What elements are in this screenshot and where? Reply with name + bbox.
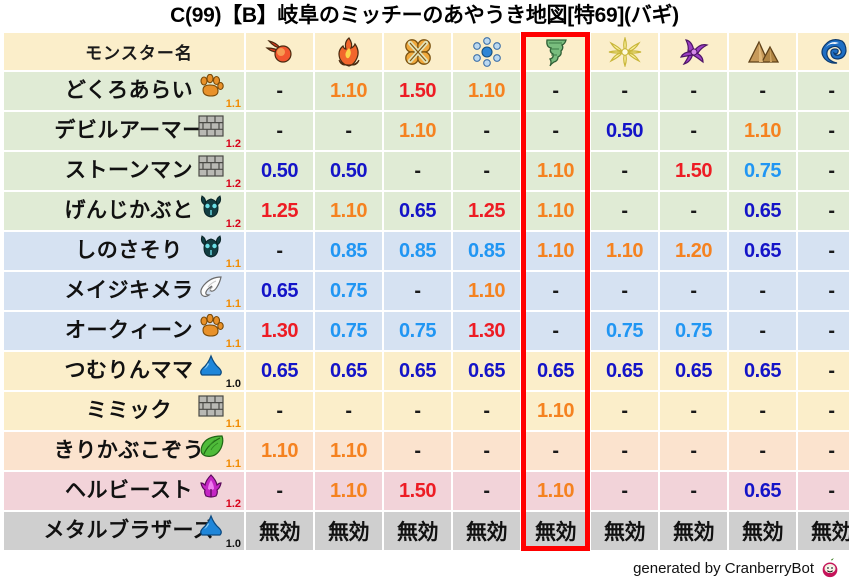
page-title: C(99)【B】岐阜のミッチーのあやうき地図[特69](バギ) — [0, 0, 849, 31]
element-column-header-fire-ball[interactable] — [246, 33, 313, 70]
resistance-value-cell: 1.10 — [453, 72, 520, 110]
resistance-value: - — [552, 440, 558, 462]
monster-name-cell[interactable]: げんじかぶと 1.2 — [4, 192, 244, 230]
family-multiplier-label: 1.2 — [226, 179, 241, 190]
paw-icon — [198, 74, 224, 98]
resistance-value-cell: 1.10 — [522, 472, 589, 510]
family-multiplier-label: 1.0 — [226, 539, 241, 550]
resistance-value-cell: - — [798, 432, 849, 470]
monster-family-badge: 1.2 — [196, 153, 242, 189]
monster-name-cell[interactable]: メタルブラザーズ 1.0 — [4, 512, 244, 550]
table-row: ストーンマン 1.20.500.50--1.10-1.500.75- — [4, 152, 849, 190]
mountain-icon — [746, 37, 780, 67]
resistance-value-cell: 無効 — [591, 512, 658, 550]
resistance-value-cell: - — [453, 472, 520, 510]
resistance-value: 1.20 — [675, 240, 712, 262]
resistance-value: 無効 — [259, 521, 300, 544]
resistance-value: 1.50 — [399, 480, 436, 502]
resistance-value: 0.75 — [675, 320, 712, 342]
table-row: メイジキメラ 1.10.650.75-1.10----- — [4, 272, 849, 310]
resistance-value-cell: - — [591, 272, 658, 310]
resistance-value-cell: 無効 — [798, 512, 849, 550]
brick-icon — [198, 114, 224, 138]
family-multiplier-label: 1.2 — [226, 499, 241, 510]
resistance-value: - — [828, 240, 834, 262]
resistance-value: 無効 — [604, 521, 645, 544]
resistance-value-cell: - — [591, 472, 658, 510]
table-header: モンスター名 — [4, 33, 849, 70]
resistance-value: 1.10 — [330, 80, 367, 102]
wave-icon — [815, 37, 849, 67]
resistance-value-cell: - — [798, 472, 849, 510]
resistance-value: 1.50 — [399, 80, 436, 102]
resistance-value: 1.10 — [606, 240, 643, 262]
resistance-value-cell: 1.10 — [384, 112, 451, 150]
resistance-value: 1.10 — [330, 200, 367, 222]
element-column-header-ice[interactable] — [453, 33, 520, 70]
resistance-value: - — [828, 440, 834, 462]
resistance-value-cell: 0.65 — [246, 352, 313, 390]
resistance-value: - — [690, 280, 696, 302]
resistance-value-cell: 1.50 — [660, 152, 727, 190]
resistance-value: 0.65 — [468, 360, 505, 382]
monster-name-cell[interactable]: つむりんママ 1.0 — [4, 352, 244, 390]
resistance-value-cell: 1.30 — [453, 312, 520, 350]
resistance-value-cell: - — [453, 112, 520, 150]
resistance-value-cell: 0.75 — [384, 312, 451, 350]
resistance-value: 無効 — [673, 521, 714, 544]
resistance-value: - — [483, 120, 489, 142]
table-body: どくろあらい 1.1-1.101.501.10-----デビルアーマー 1.2-… — [4, 72, 849, 550]
resistance-value-cell: - — [522, 272, 589, 310]
resistance-value: 0.65 — [606, 360, 643, 382]
resistance-value-cell: - — [591, 432, 658, 470]
resistance-value-cell: - — [798, 392, 849, 430]
resistance-value-cell: 0.65 — [384, 352, 451, 390]
resistance-value: - — [552, 120, 558, 142]
family-multiplier-label: 1.1 — [226, 419, 241, 430]
resistance-value-cell: - — [246, 112, 313, 150]
resistance-value: 無効 — [811, 521, 849, 544]
resistance-value-cell: 1.10 — [315, 472, 382, 510]
resistance-value: 0.65 — [330, 360, 367, 382]
resistance-value: 0.65 — [744, 360, 781, 382]
resistance-value: 0.65 — [261, 280, 298, 302]
family-multiplier-label: 1.1 — [226, 459, 241, 470]
resistance-value: 1.10 — [537, 400, 574, 422]
family-multiplier-label: 1.1 — [226, 299, 241, 310]
element-column-header-light[interactable] — [591, 33, 658, 70]
resistance-value-cell: 1.10 — [315, 72, 382, 110]
resistance-value: 無効 — [742, 521, 783, 544]
table-row: どくろあらい 1.1-1.101.501.10----- — [4, 72, 849, 110]
resistance-value-cell: - — [384, 432, 451, 470]
resistance-value-cell: 0.65 — [729, 472, 796, 510]
resistance-value-cell: 0.65 — [522, 352, 589, 390]
resistance-value-cell: - — [384, 392, 451, 430]
resistance-value-cell: 0.75 — [315, 312, 382, 350]
element-column-header-earth[interactable] — [729, 33, 796, 70]
monster-name-column-header: モンスター名 — [4, 33, 244, 70]
paw-icon — [198, 314, 224, 338]
resistance-value-cell: 無効 — [522, 512, 589, 550]
resistance-value: 0.50 — [261, 160, 298, 182]
resistance-value: - — [828, 320, 834, 342]
resistance-value-cell: - — [453, 152, 520, 190]
resistance-value-cell: 1.10 — [522, 392, 589, 430]
resistance-value-cell: 0.65 — [660, 352, 727, 390]
resistance-value-cell: - — [384, 152, 451, 190]
resistance-value-cell: - — [729, 272, 796, 310]
monster-name-label: デビルアーマー — [44, 112, 203, 150]
resistance-value: 0.65 — [399, 360, 436, 382]
element-column-header-fire-flame[interactable] — [315, 33, 382, 70]
table-row: つむりんママ 1.00.650.650.650.650.650.650.650.… — [4, 352, 849, 390]
resistance-value-cell: 0.65 — [384, 192, 451, 230]
footer-credit: generated by CranberryBot — [633, 557, 841, 579]
resistance-value-cell: - — [798, 72, 849, 110]
family-multiplier-label: 1.1 — [226, 99, 241, 110]
resistance-value: 0.65 — [744, 480, 781, 502]
resistance-value-cell: - — [315, 392, 382, 430]
resistance-value: 0.85 — [468, 240, 505, 262]
resistance-value-cell: - — [798, 152, 849, 190]
tornado-icon — [539, 37, 573, 67]
resistance-value: - — [690, 200, 696, 222]
resistance-value: - — [414, 440, 420, 462]
resistance-value-cell: - — [453, 432, 520, 470]
resistance-value: - — [759, 320, 765, 342]
monster-name-label: げんじかぶと — [55, 192, 194, 230]
monster-name-label: どくろあらい — [55, 72, 193, 110]
resistance-table-wrap: モンスター名 — [0, 31, 849, 552]
element-column-header-water[interactable] — [798, 33, 849, 70]
resistance-value-cell: 0.85 — [453, 232, 520, 270]
resistance-value-cell: - — [591, 72, 658, 110]
resistance-table: モンスター名 — [2, 31, 849, 552]
resistance-value: - — [621, 80, 627, 102]
resistance-value: - — [276, 80, 282, 102]
resistance-value: - — [276, 400, 282, 422]
resistance-value: 0.65 — [261, 360, 298, 382]
table-row: オークィーン 1.11.300.750.751.30-0.750.75-- — [4, 312, 849, 350]
monster-name-cell[interactable]: しのさそり 1.1 — [4, 232, 244, 270]
resistance-value: 1.10 — [330, 480, 367, 502]
resistance-value-cell: 無効 — [315, 512, 382, 550]
table-row: ミミック 1.1----1.10---- — [4, 392, 849, 430]
monster-family-badge: 1.2 — [196, 193, 242, 229]
resistance-value: 無効 — [466, 521, 507, 544]
resistance-value-cell: - — [246, 472, 313, 510]
monster-name-label: メイジキメラ — [55, 272, 194, 310]
resistance-value: - — [345, 400, 351, 422]
resistance-value: 1.10 — [399, 120, 436, 142]
resistance-value-cell: - — [591, 152, 658, 190]
resistance-value-cell: 1.25 — [246, 192, 313, 230]
resistance-value: - — [345, 120, 351, 142]
table-row: デビルアーマー 1.2--1.10--0.50-1.10- — [4, 112, 849, 150]
resistance-value-cell: - — [729, 312, 796, 350]
resistance-value-cell: - — [315, 112, 382, 150]
resistance-value: - — [483, 160, 489, 182]
resistance-value-cell: 0.85 — [384, 232, 451, 270]
resistance-value-cell: - — [660, 72, 727, 110]
monster-family-badge: 1.1 — [196, 273, 242, 309]
insect-icon — [198, 194, 224, 218]
resistance-value: - — [690, 480, 696, 502]
resistance-value: 0.65 — [744, 240, 781, 262]
explosion-icon — [401, 37, 435, 67]
resistance-value: 1.30 — [468, 320, 505, 342]
resistance-value-cell: 0.50 — [591, 112, 658, 150]
resistance-value-cell: - — [246, 392, 313, 430]
resistance-value: 1.10 — [744, 120, 781, 142]
resistance-value: - — [621, 280, 627, 302]
resistance-value: - — [276, 240, 282, 262]
resistance-value-cell: - — [798, 192, 849, 230]
monster-family-badge: 1.1 — [196, 393, 242, 429]
resistance-value-cell: 1.10 — [453, 272, 520, 310]
resistance-value-cell: 0.50 — [246, 152, 313, 190]
monster-name-cell[interactable]: デビルアーマー 1.2 — [4, 112, 244, 150]
resistance-value-cell: 無効 — [246, 512, 313, 550]
family-multiplier-label: 1.1 — [226, 339, 241, 350]
table-row: メタルブラザーズ 1.0無効無効無効無効無効無効無効無効無効 — [4, 512, 849, 550]
resistance-value-cell: - — [660, 392, 727, 430]
resistance-value-cell: 0.65 — [729, 192, 796, 230]
monster-name-label: きりかぶこぞう — [44, 432, 205, 470]
wing-icon — [198, 274, 224, 298]
resistance-value-cell: 0.75 — [729, 152, 796, 190]
brick-icon — [198, 154, 224, 178]
monster-name-cell[interactable]: きりかぶこぞう 1.1 — [4, 432, 244, 470]
monster-family-badge: 1.0 — [196, 353, 242, 389]
monster-name-cell[interactable]: ミミック 1.1 — [4, 392, 244, 430]
monster-family-badge: 1.0 — [196, 513, 242, 549]
resistance-value: 無効 — [535, 521, 576, 544]
resistance-value: - — [414, 160, 420, 182]
resistance-value-cell: - — [798, 112, 849, 150]
resistance-value-cell: 1.10 — [729, 112, 796, 150]
resistance-value: 1.25 — [261, 200, 298, 222]
resistance-value: - — [759, 400, 765, 422]
resistance-value: 0.75 — [399, 320, 436, 342]
monster-name-cell[interactable]: メイジキメラ 1.1 — [4, 272, 244, 310]
resistance-value-cell: 0.85 — [315, 232, 382, 270]
snowflake-icon — [470, 37, 504, 67]
resistance-value-cell: 1.10 — [522, 152, 589, 190]
resistance-value-cell: 1.10 — [246, 432, 313, 470]
resistance-value-cell: - — [522, 72, 589, 110]
resistance-value-cell: 0.65 — [591, 352, 658, 390]
resistance-value-cell: - — [798, 272, 849, 310]
resistance-value: 1.10 — [537, 200, 574, 222]
resistance-value-cell: - — [729, 432, 796, 470]
table-row: きりかぶこぞう 1.11.101.10------- — [4, 432, 849, 470]
resistance-value-cell: - — [660, 192, 727, 230]
resistance-value: - — [690, 120, 696, 142]
resistance-value: - — [621, 440, 627, 462]
slime-icon — [198, 354, 224, 378]
family-multiplier-label: 1.2 — [226, 139, 241, 150]
cranberry-bot-icon — [819, 557, 841, 579]
resistance-value: 1.10 — [537, 480, 574, 502]
resistance-value-cell: 1.10 — [522, 232, 589, 270]
resistance-value: - — [621, 160, 627, 182]
resistance-value-cell: - — [660, 432, 727, 470]
resistance-value-cell: 無効 — [729, 512, 796, 550]
footer-text: generated by CranberryBot — [633, 560, 814, 577]
resistance-value: 1.10 — [537, 240, 574, 262]
resistance-value: - — [690, 440, 696, 462]
resistance-value-cell: - — [522, 432, 589, 470]
resistance-value-cell: - — [660, 272, 727, 310]
monster-name-cell[interactable]: オークィーン 1.1 — [4, 312, 244, 350]
resistance-value-cell: 0.65 — [246, 272, 313, 310]
resistance-value: 1.10 — [330, 440, 367, 462]
element-column-header-explosion[interactable] — [384, 33, 451, 70]
monster-name-label: オークィーン — [55, 312, 193, 350]
resistance-value: 1.10 — [468, 80, 505, 102]
monster-family-badge: 1.2 — [196, 113, 242, 149]
monster-family-badge: 1.2 — [196, 473, 242, 509]
resistance-value: 1.10 — [468, 280, 505, 302]
resistance-value-cell: - — [246, 232, 313, 270]
resistance-value-cell: - — [591, 192, 658, 230]
resistance-value: - — [483, 400, 489, 422]
resistance-value: 0.85 — [330, 240, 367, 262]
resistance-value: - — [414, 400, 420, 422]
resistance-value: 0.85 — [399, 240, 436, 262]
resistance-value-cell: - — [522, 112, 589, 150]
table-row: しのさそり 1.1-0.850.850.851.101.101.200.65- — [4, 232, 849, 270]
resistance-value-cell: 1.50 — [384, 72, 451, 110]
resistance-value: - — [621, 200, 627, 222]
resistance-value-cell: - — [798, 312, 849, 350]
resistance-value-cell: 1.10 — [522, 192, 589, 230]
family-multiplier-label: 1.0 — [226, 379, 241, 390]
resistance-value-cell: - — [384, 272, 451, 310]
resistance-value: - — [552, 320, 558, 342]
resistance-value: - — [828, 120, 834, 142]
resistance-value: 1.30 — [261, 320, 298, 342]
flame-icon — [332, 37, 366, 67]
leaf-icon — [198, 434, 224, 458]
resistance-value: - — [621, 400, 627, 422]
brick-icon — [198, 394, 224, 418]
header-row: モンスター名 — [4, 33, 849, 70]
resistance-value-cell: - — [798, 352, 849, 390]
family-multiplier-label: 1.2 — [226, 219, 241, 230]
resistance-value: 1.25 — [468, 200, 505, 222]
resistance-value: - — [828, 480, 834, 502]
resistance-value: - — [828, 160, 834, 182]
insect-icon — [198, 234, 224, 258]
resistance-value-cell: 0.65 — [729, 232, 796, 270]
resistance-value-cell: 無効 — [660, 512, 727, 550]
resistance-value-cell: 1.10 — [315, 192, 382, 230]
resistance-value: - — [621, 480, 627, 502]
resistance-value-cell: - — [591, 392, 658, 430]
monster-name-cell[interactable]: ヘルビースト 1.2 — [4, 472, 244, 510]
resistance-value: - — [552, 80, 558, 102]
resistance-value: 0.50 — [606, 120, 643, 142]
resistance-value-cell: 1.20 — [660, 232, 727, 270]
monster-name-label: ヘルビースト — [55, 472, 193, 510]
resistance-value: 0.75 — [606, 320, 643, 342]
family-multiplier-label: 1.1 — [226, 259, 241, 270]
resistance-value-cell: - — [660, 112, 727, 150]
resistance-value-cell: 0.75 — [591, 312, 658, 350]
resistance-value-cell: - — [246, 72, 313, 110]
resistance-value-cell: - — [729, 72, 796, 110]
resistance-value: - — [690, 80, 696, 102]
resistance-value-cell: - — [453, 392, 520, 430]
resistance-value: 1.50 — [675, 160, 712, 182]
pinwheel-icon — [677, 37, 711, 67]
resistance-value: - — [828, 80, 834, 102]
resistance-value: 1.10 — [261, 440, 298, 462]
resistance-value-cell: 1.10 — [591, 232, 658, 270]
resistance-value: - — [759, 80, 765, 102]
resistance-value-cell: 0.65 — [729, 352, 796, 390]
element-column-header-wind[interactable] — [522, 33, 589, 70]
resistance-value-cell: 無効 — [453, 512, 520, 550]
fireball-icon — [263, 37, 297, 67]
element-column-header-dark[interactable] — [660, 33, 727, 70]
resistance-value-cell: - — [729, 392, 796, 430]
monster-name-cell[interactable]: どくろあらい 1.1 — [4, 72, 244, 110]
resistance-value: - — [828, 200, 834, 222]
table-row: ヘルビースト 1.2-1.101.50-1.10--0.65- — [4, 472, 849, 510]
monster-name-cell[interactable]: ストーンマン 1.2 — [4, 152, 244, 190]
monster-name-label: ミミック — [76, 392, 172, 430]
resistance-value: 0.75 — [744, 160, 781, 182]
resistance-value: 0.65 — [537, 360, 574, 382]
resistance-value: 0.75 — [330, 280, 367, 302]
resistance-value: 0.65 — [744, 200, 781, 222]
monster-name-label: メタルブラザーズ — [34, 512, 215, 550]
table-row: げんじかぶと 1.21.251.100.651.251.10--0.65- — [4, 192, 849, 230]
slime-icon — [198, 514, 224, 538]
resistance-value: - — [483, 480, 489, 502]
monster-name-label: ストーンマン — [55, 152, 193, 190]
resistance-value-cell: 0.75 — [660, 312, 727, 350]
resistance-value: - — [414, 280, 420, 302]
resistance-value-cell: - — [660, 472, 727, 510]
resistance-value-cell: - — [522, 312, 589, 350]
resistance-value-cell: 0.75 — [315, 272, 382, 310]
monster-family-badge: 1.1 — [196, 73, 242, 109]
resistance-value: - — [690, 400, 696, 422]
resistance-value: - — [276, 480, 282, 502]
resistance-value: - — [828, 400, 834, 422]
resistance-value-cell: 0.65 — [315, 352, 382, 390]
demon-icon — [198, 474, 224, 498]
resistance-value: 0.75 — [330, 320, 367, 342]
resistance-value: 0.50 — [330, 160, 367, 182]
resistance-value-cell: 1.50 — [384, 472, 451, 510]
resistance-value-cell: 無効 — [384, 512, 451, 550]
resistance-value: - — [276, 120, 282, 142]
resistance-value-cell: 1.10 — [315, 432, 382, 470]
resistance-value-cell: 0.65 — [453, 352, 520, 390]
resistance-value: 1.10 — [537, 160, 574, 182]
resistance-value: 0.65 — [675, 360, 712, 382]
resistance-value: - — [483, 440, 489, 462]
resistance-value: - — [759, 440, 765, 462]
resistance-value-cell: 1.25 — [453, 192, 520, 230]
